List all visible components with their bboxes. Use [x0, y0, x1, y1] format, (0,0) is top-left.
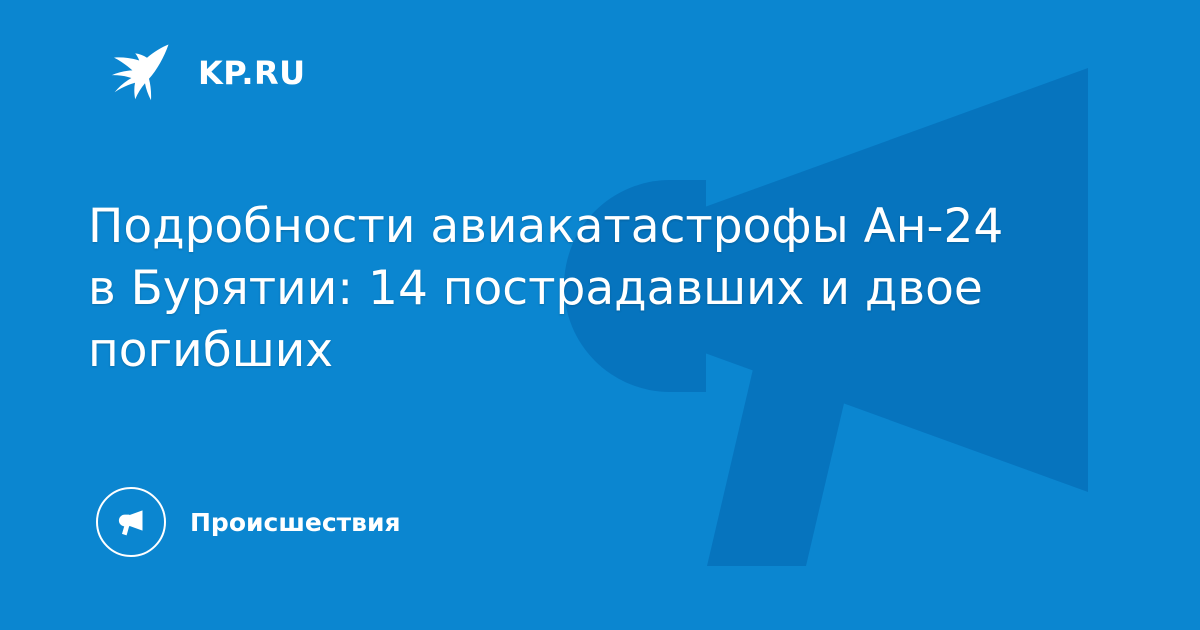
rubric-label: Происшествия: [190, 510, 401, 535]
social-share-card: KP.RU Подробности авиакатастрофы Ан-24 в…: [0, 0, 1200, 630]
rubric-badge: [96, 487, 166, 557]
brand-name: KP.RU: [198, 57, 306, 89]
rubric[interactable]: Происшествия: [96, 487, 401, 557]
swallow-bird-icon: [104, 36, 178, 110]
brand-logo[interactable]: KP.RU: [104, 36, 306, 110]
headline-title: Подробности авиакатастрофы Ан-24 в Бурят…: [88, 196, 1028, 382]
megaphone-icon: [111, 502, 151, 542]
